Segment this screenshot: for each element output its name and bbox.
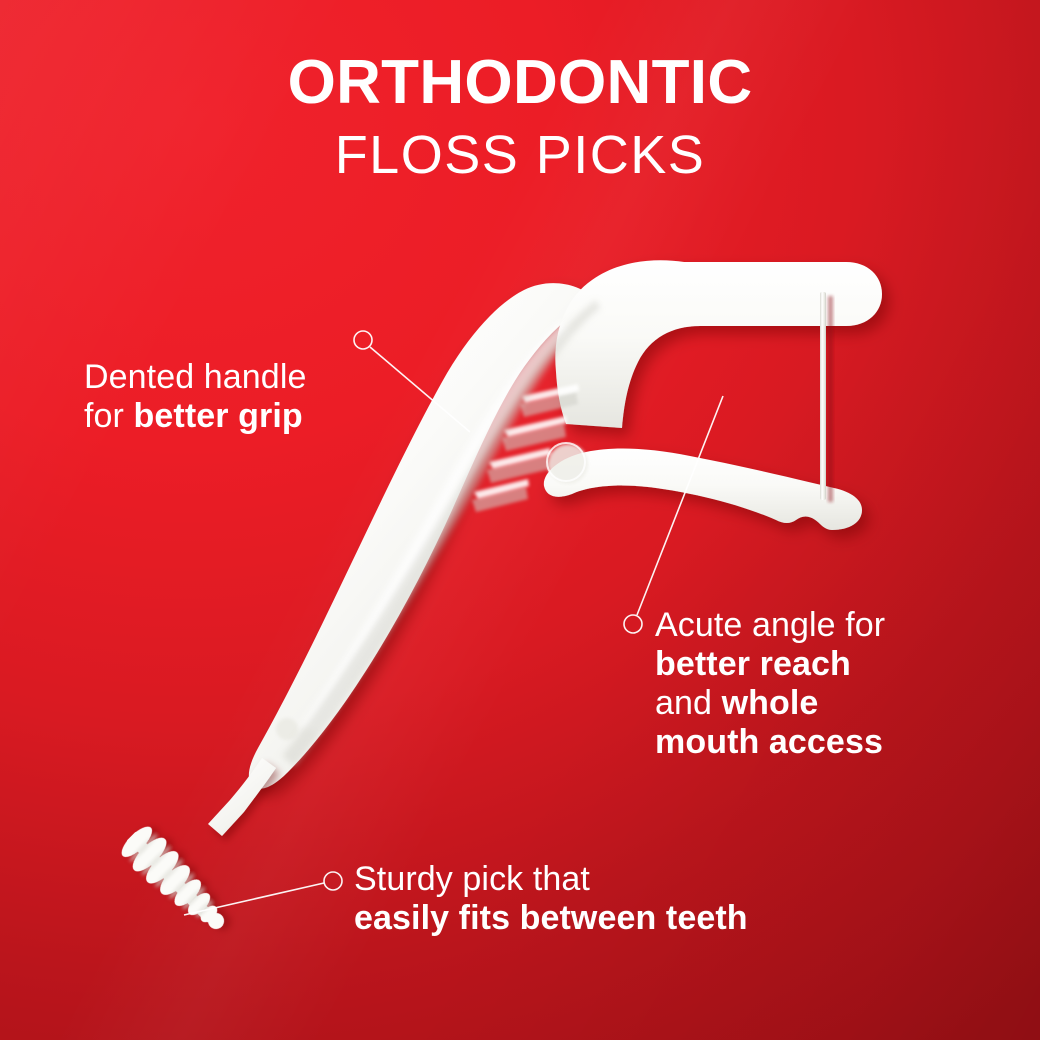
pick-tip-brush [116,821,238,943]
callout-emphasis: easily fits between teeth [354,899,748,937]
floss-strand [820,292,826,500]
page-subtitle: FLOSS PICKS [0,128,1040,182]
callout-sturdy-pick: Sturdy pick that easily fits between tee… [354,860,874,938]
page-title: ORTHODONTIC [0,52,1040,114]
callout-emphasis: better reach [655,645,851,683]
callout-emphasis: whole [722,684,819,722]
callout-emphasis: mouth access [655,723,883,761]
callout-dented-handle: Dented handle for better grip [84,358,414,436]
callout-line: Dented handle [84,358,306,396]
pick-shaft [208,758,276,836]
callout-line: and [655,684,722,722]
callout-acute-angle: Acute angle for better reach and whole m… [655,606,975,762]
callout-emphasis: better grip [134,397,303,435]
infographic-canvas: ORTHODONTIC FLOSS PICKS Dented handle fo… [0,0,1040,1040]
callout-line: Sturdy pick that [354,860,590,898]
fork-lower-arm [544,449,862,530]
callout-line: Acute angle for [655,606,885,644]
page-heading: ORTHODONTIC FLOSS PICKS [0,52,1040,182]
callout-line: for [84,397,134,435]
handle-tip-boss [276,718,298,740]
floss-strand-shadow [828,296,833,502]
